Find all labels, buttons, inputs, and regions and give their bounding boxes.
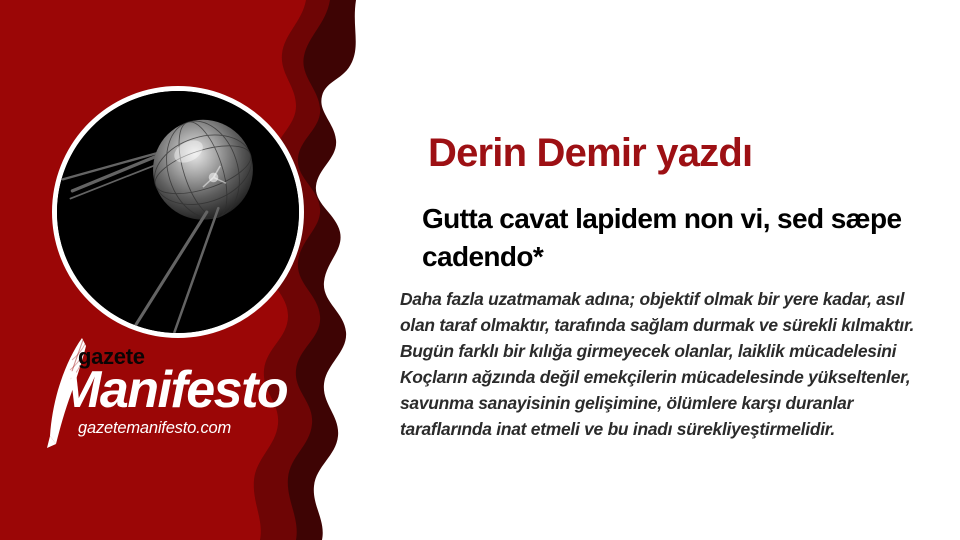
sputnik-satellite-image bbox=[52, 86, 304, 338]
gazete-manifesto-logo[interactable]: gazete Manifesto gazetemanifesto.com bbox=[42, 332, 312, 450]
body-text: Daha fazla uzatmamak adına; objektif olm… bbox=[400, 287, 930, 443]
news-quote-card: gazete Manifesto gazetemanifesto.com Der… bbox=[0, 0, 960, 540]
subtitle: Gutta cavat lapidem non vi, sed sæpe cad… bbox=[422, 200, 932, 275]
article-content: Derin Demir yazdı Gutta cavat lapidem no… bbox=[396, 0, 948, 540]
logo-wordmark: Manifesto bbox=[58, 364, 287, 416]
logo-url: gazetemanifesto.com bbox=[78, 420, 231, 437]
headline: Derin Demir yazdı bbox=[428, 132, 752, 174]
